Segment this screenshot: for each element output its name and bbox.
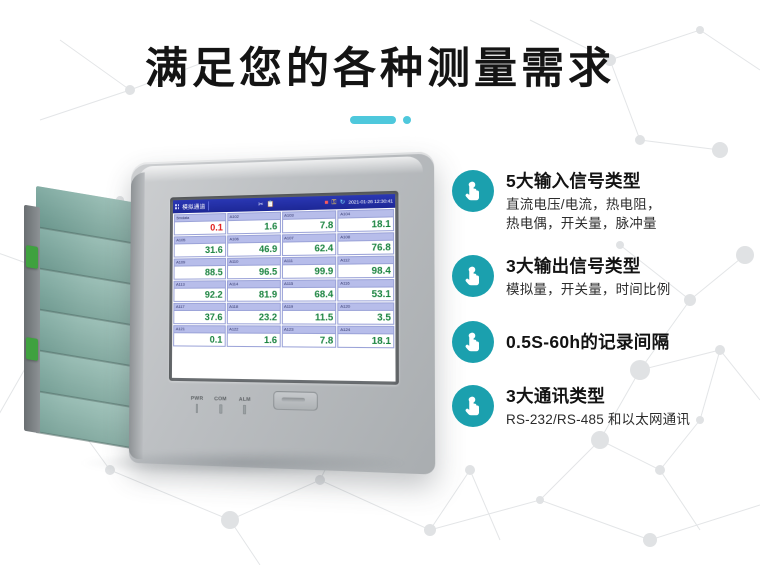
channel-value: 7.8	[283, 219, 336, 233]
terminal-connector	[26, 245, 38, 269]
screen-timestamp: 2021-01-26 12:30:41	[348, 198, 393, 204]
channel-cell[interactable]: A1237.8	[281, 326, 336, 348]
channel-cell[interactable]: A12418.1	[338, 326, 395, 349]
channel-value: 7.8	[282, 334, 335, 347]
channel-value: 37.6	[174, 311, 224, 323]
touch-tap-icon	[452, 321, 494, 363]
channel-value: 23.2	[228, 311, 280, 323]
accent-dot	[403, 116, 411, 124]
scissors-icon[interactable]: ✂	[258, 201, 263, 207]
terminal-connector	[26, 337, 38, 361]
channel-row: A1210.1A1221.6A1237.8A12418.1	[173, 325, 394, 348]
channel-cell[interactable]: A11823.2	[227, 303, 281, 325]
touch-tap-icon	[452, 385, 494, 427]
accent-bar	[350, 116, 396, 124]
screen-title: 模拟通道	[182, 202, 205, 211]
led-indicator-row: PWR COM ALM	[191, 396, 250, 415]
channel-cell[interactable]: A11568.4	[281, 279, 336, 301]
channel-row: A10988.5A11096.5A11199.9A11298.4	[174, 256, 395, 280]
channel-value: 1.6	[228, 220, 279, 233]
led-indicator: ALM	[238, 397, 250, 415]
feature-list: 5大输入信号类型直流电压/电流，热电阻，热电偶，开关量，脉冲量3大输出信号类型模…	[452, 170, 752, 451]
led-slot	[243, 405, 246, 414]
device-shadow	[78, 450, 408, 476]
feature-description: 模拟量，开关量，时间比例	[506, 280, 670, 299]
channel-value: 18.1	[339, 334, 394, 347]
channel-row: 5mdata0.1A1021.6A1037.8A10418.1	[174, 209, 394, 236]
feature-description: 直流电压/电流，热电阻，	[506, 195, 661, 214]
feature-title: 3大输出信号类型	[506, 256, 670, 278]
channel-value: 81.9	[228, 288, 280, 301]
led-label-com: COM	[214, 396, 227, 402]
feature-description: 热电偶，开关量，脉冲量	[506, 214, 661, 233]
channel-cell[interactable]: A11392.2	[173, 280, 225, 302]
channel-value: 68.4	[282, 288, 335, 301]
device-illustration: 模拟通道 ✂ 📋 ■ ⚿ ↻ 2021-01-26 12:30:41 5mdat…	[18, 150, 448, 500]
refresh-icon[interactable]: ↻	[340, 199, 345, 205]
channel-value: 31.6	[175, 244, 225, 257]
channel-row: A11737.6A11823.2A11911.5A1203.5	[173, 302, 394, 324]
alarm-icon[interactable]: ■	[324, 200, 328, 206]
clipboard-icon[interactable]: 📋	[266, 201, 274, 207]
channel-value: 1.6	[227, 334, 279, 347]
feature-body: 5大输入信号类型直流电压/电流，热电阻，热电偶，开关量，脉冲量	[506, 170, 661, 233]
channel-value: 46.9	[228, 243, 280, 256]
channel-cell[interactable]: A11096.5	[227, 257, 281, 279]
channel-cell[interactable]: A11199.9	[281, 256, 336, 278]
channel-cell[interactable]: A11653.1	[338, 279, 395, 302]
led-slot	[196, 404, 199, 413]
display-screen[interactable]: 模拟通道 ✂ 📋 ■ ⚿ ↻ 2021-01-26 12:30:41 5mdat…	[172, 194, 396, 382]
feature-title: 0.5S-60h的记录间隔	[506, 332, 669, 354]
channel-label: A117	[174, 304, 224, 311]
channel-value: 99.9	[282, 265, 335, 278]
channel-cell[interactable]: 5mdata0.1	[174, 213, 226, 235]
channel-cell[interactable]: A1210.1	[173, 325, 225, 347]
channel-cell[interactable]: A1037.8	[281, 210, 336, 233]
display-bezel: 模拟通道 ✂ 📋 ■ ⚿ ↻ 2021-01-26 12:30:41 5mdat…	[169, 191, 399, 385]
feature-body: 0.5S-60h的记录间隔	[506, 331, 669, 354]
led-indicator: PWR	[191, 396, 204, 414]
instrument-body: 模拟通道 ✂ 📋 ■ ⚿ ↻ 2021-01-26 12:30:41 5mdat…	[129, 151, 435, 474]
touch-tap-icon	[452, 170, 494, 212]
channel-cell[interactable]: A1203.5	[338, 302, 395, 324]
feature-title: 3大通讯类型	[506, 386, 690, 408]
channel-value: 0.1	[174, 333, 224, 346]
door-handle[interactable]	[273, 391, 318, 411]
channel-grid: 5mdata0.1A1021.6A1037.8A10418.1A10531.6A…	[172, 208, 395, 349]
channel-value: 11.5	[282, 311, 335, 324]
led-label-alm: ALM	[238, 397, 250, 403]
channel-value: 18.1	[339, 217, 393, 231]
marketing-banner: 满足您的各种测量需求 模拟通道	[0, 0, 760, 565]
headline-wrapper: 满足您的各种测量需求	[0, 46, 760, 92]
channel-cell[interactable]: A11298.4	[338, 256, 395, 279]
channel-value: 3.5	[339, 311, 394, 324]
channel-cell[interactable]: A11911.5	[281, 303, 336, 325]
channel-cell[interactable]: A10531.6	[174, 235, 226, 257]
channel-row: A10531.6A10646.9A10762.4A10876.8	[174, 232, 394, 257]
feature-item: 3大输出信号类型模拟量，开关量，时间比例	[452, 255, 752, 299]
channel-cell[interactable]: A10418.1	[338, 209, 395, 232]
feature-body: 3大输出信号类型模拟量，开关量，时间比例	[506, 255, 670, 299]
channel-value: 53.1	[339, 287, 393, 300]
lock-icon[interactable]: ⚿	[332, 199, 337, 205]
channel-cell[interactable]: A10646.9	[227, 234, 281, 256]
channel-cell[interactable]: A1221.6	[226, 325, 280, 347]
channel-cell[interactable]: A10876.8	[338, 232, 395, 255]
channel-value: 62.4	[282, 242, 335, 255]
led-label-pwr: PWR	[191, 396, 203, 402]
feature-item: 5大输入信号类型直流电压/电流，热电阻，热电偶，开关量，脉冲量	[452, 170, 752, 233]
led-slot	[219, 404, 222, 413]
channel-value: 76.8	[339, 241, 393, 255]
feature-item: 0.5S-60h的记录间隔	[452, 321, 752, 363]
channel-value: 88.5	[175, 266, 225, 279]
touch-tap-icon	[452, 255, 494, 297]
feature-body: 3大通讯类型RS-232/RS-485 和以太网通讯	[506, 385, 690, 429]
channel-cell[interactable]: A1021.6	[227, 212, 281, 235]
channel-row: A11392.2A11481.9A11568.4A11653.1	[173, 279, 394, 302]
led-indicator: COM	[214, 396, 227, 414]
rear-side-panel	[24, 205, 40, 434]
channel-cell[interactable]: A11481.9	[227, 280, 281, 302]
channel-value: 0.1	[175, 221, 225, 234]
channel-cell[interactable]: A10762.4	[281, 233, 336, 256]
channel-value: 92.2	[174, 288, 224, 300]
channel-cell[interactable]: A11737.6	[173, 303, 225, 325]
channel-value: 98.4	[339, 264, 393, 277]
menu-grid-icon[interactable]	[175, 205, 179, 209]
feature-description: RS-232/RS-485 和以太网通讯	[506, 410, 690, 429]
channel-value: 96.5	[228, 265, 280, 278]
accent-divider	[0, 116, 760, 124]
channel-cell[interactable]: A10988.5	[174, 258, 226, 280]
feature-title: 5大输入信号类型	[506, 171, 661, 193]
channel-label: A120	[339, 303, 394, 310]
feature-item: 3大通讯类型RS-232/RS-485 和以太网通讯	[452, 385, 752, 429]
channel-label: A118	[228, 304, 280, 311]
channel-label: A119	[282, 304, 335, 311]
page-title: 满足您的各种测量需求	[0, 46, 760, 92]
